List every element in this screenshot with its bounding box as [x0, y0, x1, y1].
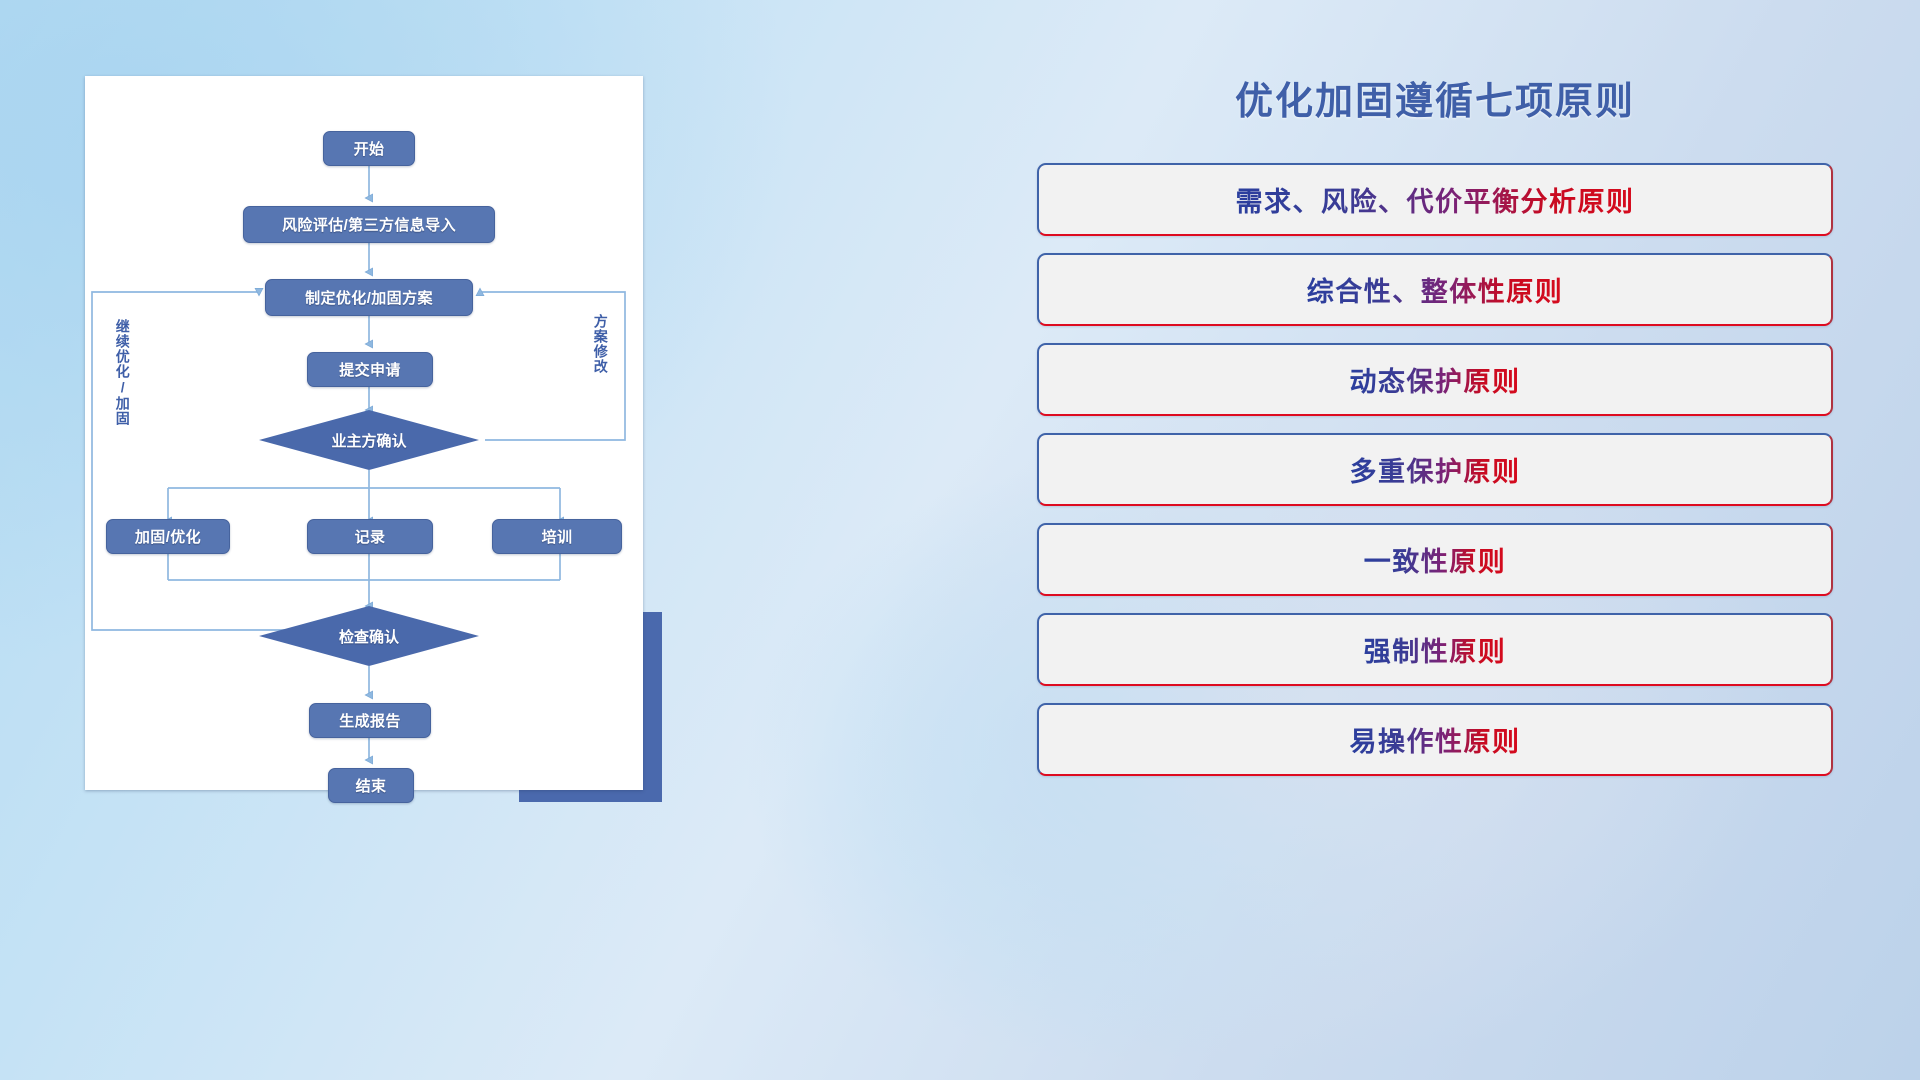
- principle-card[interactable]: 易操作性原则: [1037, 703, 1833, 776]
- flow-decision-check-confirm[interactable]: 检查确认: [259, 606, 479, 666]
- principle-label: 需求、风险、代价平衡分析原则: [1236, 180, 1635, 219]
- flow-node-reinforce-optimize[interactable]: 加固/优化: [106, 519, 230, 554]
- flow-node-label: 风险评估/第三方信息导入: [282, 214, 456, 235]
- flow-node-generate-report[interactable]: 生成报告: [309, 703, 431, 738]
- flow-edge-label-plan-revision: 方案修改: [593, 314, 608, 374]
- principles-pane: 优化加固遵循七项原则 需求、风险、代价平衡分析原则 综合性、整体性原则 动态保护…: [1020, 70, 1850, 1030]
- flow-node-make-plan[interactable]: 制定优化/加固方案: [265, 279, 473, 316]
- principle-card[interactable]: 多重保护原则: [1037, 433, 1833, 506]
- principle-card[interactable]: 强制性原则: [1037, 613, 1833, 686]
- principle-label: 动态保护原则: [1350, 360, 1521, 399]
- principle-card[interactable]: 需求、风险、代价平衡分析原则: [1037, 163, 1833, 236]
- flowchart-panel: 开始 风险评估/第三方信息导入 制定优化/加固方案 提交申请 业主方确认 加固/…: [85, 76, 643, 790]
- principles-title: 优化加固遵循七项原则: [1020, 70, 1850, 125]
- flow-node-end[interactable]: 结束: [328, 768, 414, 803]
- flow-node-label: 检查确认: [339, 626, 399, 647]
- flow-node-label: 结束: [356, 775, 387, 796]
- principle-card[interactable]: 综合性、整体性原则: [1037, 253, 1833, 326]
- flow-node-label: 生成报告: [339, 710, 401, 731]
- flow-node-record[interactable]: 记录: [307, 519, 433, 554]
- flow-edge-label-continue-optimize: 继续优化/加固: [115, 319, 130, 426]
- flow-node-label: 开始: [354, 138, 385, 159]
- flow-node-label: 加固/优化: [135, 526, 201, 547]
- principle-card[interactable]: 动态保护原则: [1037, 343, 1833, 416]
- principle-label: 易操作性原则: [1350, 720, 1521, 759]
- principle-card[interactable]: 一致性原则: [1037, 523, 1833, 596]
- flow-node-label: 制定优化/加固方案: [305, 287, 433, 308]
- flow-node-label: 业主方确认: [331, 430, 406, 451]
- principle-label: 多重保护原则: [1350, 450, 1521, 489]
- flow-node-submit-application[interactable]: 提交申请: [307, 352, 433, 387]
- flow-node-label: 提交申请: [339, 359, 401, 380]
- flow-decision-owner-confirm[interactable]: 业主方确认: [259, 410, 479, 470]
- principle-label: 综合性、整体性原则: [1307, 270, 1564, 309]
- flow-node-training[interactable]: 培训: [492, 519, 622, 554]
- flow-node-label: 培训: [542, 526, 573, 547]
- flow-node-start[interactable]: 开始: [323, 131, 415, 166]
- principle-label: 一致性原则: [1364, 540, 1507, 579]
- principle-label: 强制性原则: [1364, 630, 1507, 669]
- flow-node-risk-assessment[interactable]: 风险评估/第三方信息导入: [243, 206, 495, 243]
- flow-node-label: 记录: [355, 526, 386, 547]
